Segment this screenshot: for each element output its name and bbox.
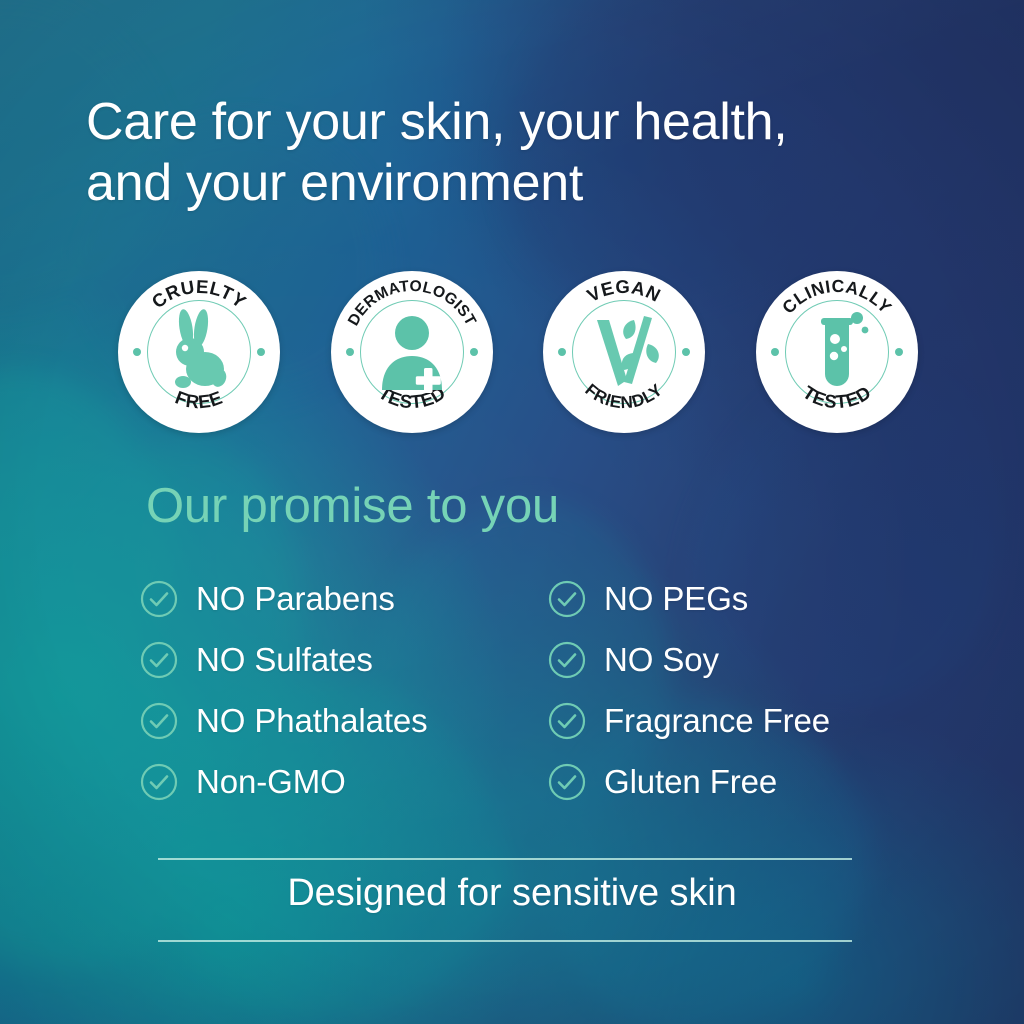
divider-bottom (158, 940, 852, 942)
promise-item: Gluten Free (548, 751, 930, 812)
certification-badge-row: CRUELTY FREE (118, 270, 918, 434)
promise-item: Fragrance Free (548, 690, 930, 751)
promise-banner: Care for your skin, your health, and you… (0, 0, 1024, 1024)
promise-item-label: Non-GMO (196, 763, 346, 801)
promise-item: NO Parabens (140, 568, 548, 629)
promise-item-label: NO Phathalates (196, 702, 428, 740)
check-circle-icon (140, 702, 178, 740)
badge-vegan-friendly: VEGAN FRIENDLY (543, 271, 705, 433)
content-layer: Care for your skin, your health, and you… (0, 0, 1024, 1024)
promise-item-label: NO Soy (604, 641, 719, 679)
promise-item-label: NO Sulfates (196, 641, 373, 679)
divider-top (158, 858, 852, 860)
vegan-leaf-v-icon (578, 306, 670, 398)
badge-top-label: VEGAN (584, 276, 665, 306)
badge-clinically-tested: CLINICALLY TESTED (756, 271, 918, 433)
check-circle-icon (548, 763, 586, 801)
promise-title: Our promise to you (146, 478, 559, 534)
check-circle-icon (140, 580, 178, 618)
bunny-icon (153, 306, 245, 398)
footer-tagline: Designed for sensitive skin (0, 872, 1024, 915)
promise-item-label: Fragrance Free (604, 702, 830, 740)
promise-item: NO Sulfates (140, 629, 548, 690)
page-title: Care for your skin, your health, and you… (86, 92, 976, 215)
promise-item-label: NO Parabens (196, 580, 395, 618)
svg-text:VEGAN: VEGAN (584, 276, 665, 306)
promise-list: NO Parabens NO PEGs NO Sulfates (140, 568, 930, 812)
promise-item-label: NO PEGs (604, 580, 748, 618)
check-circle-icon (548, 702, 586, 740)
promise-item-label: Gluten Free (604, 763, 777, 801)
check-circle-icon (140, 763, 178, 801)
check-circle-icon (140, 641, 178, 679)
check-circle-icon (548, 580, 586, 618)
badge-cruelty-free: CRUELTY FREE (118, 271, 280, 433)
test-tube-icon (791, 306, 883, 398)
check-circle-icon (548, 641, 586, 679)
promise-item: Non-GMO (140, 751, 548, 812)
promise-item: NO Soy (548, 629, 930, 690)
promise-item: NO Phathalates (140, 690, 548, 751)
promise-item: NO PEGs (548, 568, 930, 629)
person-medical-icon (366, 306, 458, 398)
badge-dermatologist-tested: DERMATOLOGIST TESTED (331, 271, 493, 433)
